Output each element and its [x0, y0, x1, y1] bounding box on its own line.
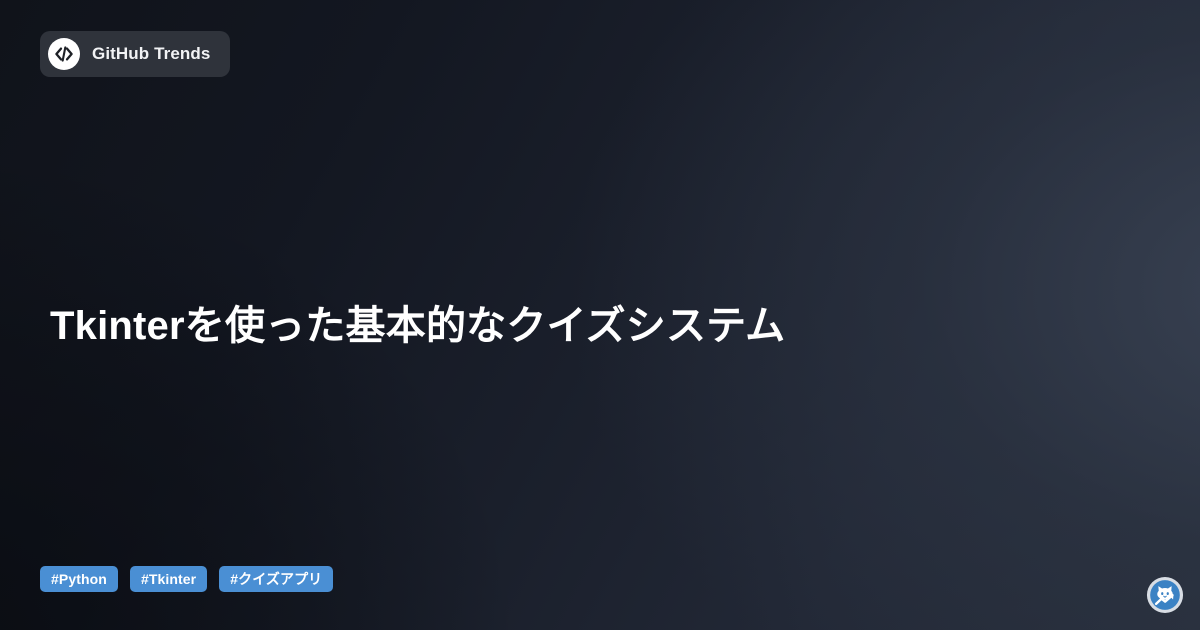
cat-trending-arrow-logo[interactable] [1146, 576, 1184, 614]
tag-item[interactable]: #クイズアプリ [219, 566, 333, 592]
tag-list: #Python #Tkinter #クイズアプリ [40, 566, 333, 592]
source-badge[interactable]: GitHub Trends [40, 31, 230, 77]
tag-item[interactable]: #Python [40, 566, 118, 592]
social-card: GitHub Trends Tkinterを使った基本的なクイズシステム #Py… [0, 0, 1200, 630]
tag-item[interactable]: #Tkinter [130, 566, 207, 592]
code-brackets-icon [48, 38, 80, 70]
source-badge-label: GitHub Trends [92, 44, 210, 64]
card-title: Tkinterを使った基本的なクイズシステム [50, 300, 1130, 353]
